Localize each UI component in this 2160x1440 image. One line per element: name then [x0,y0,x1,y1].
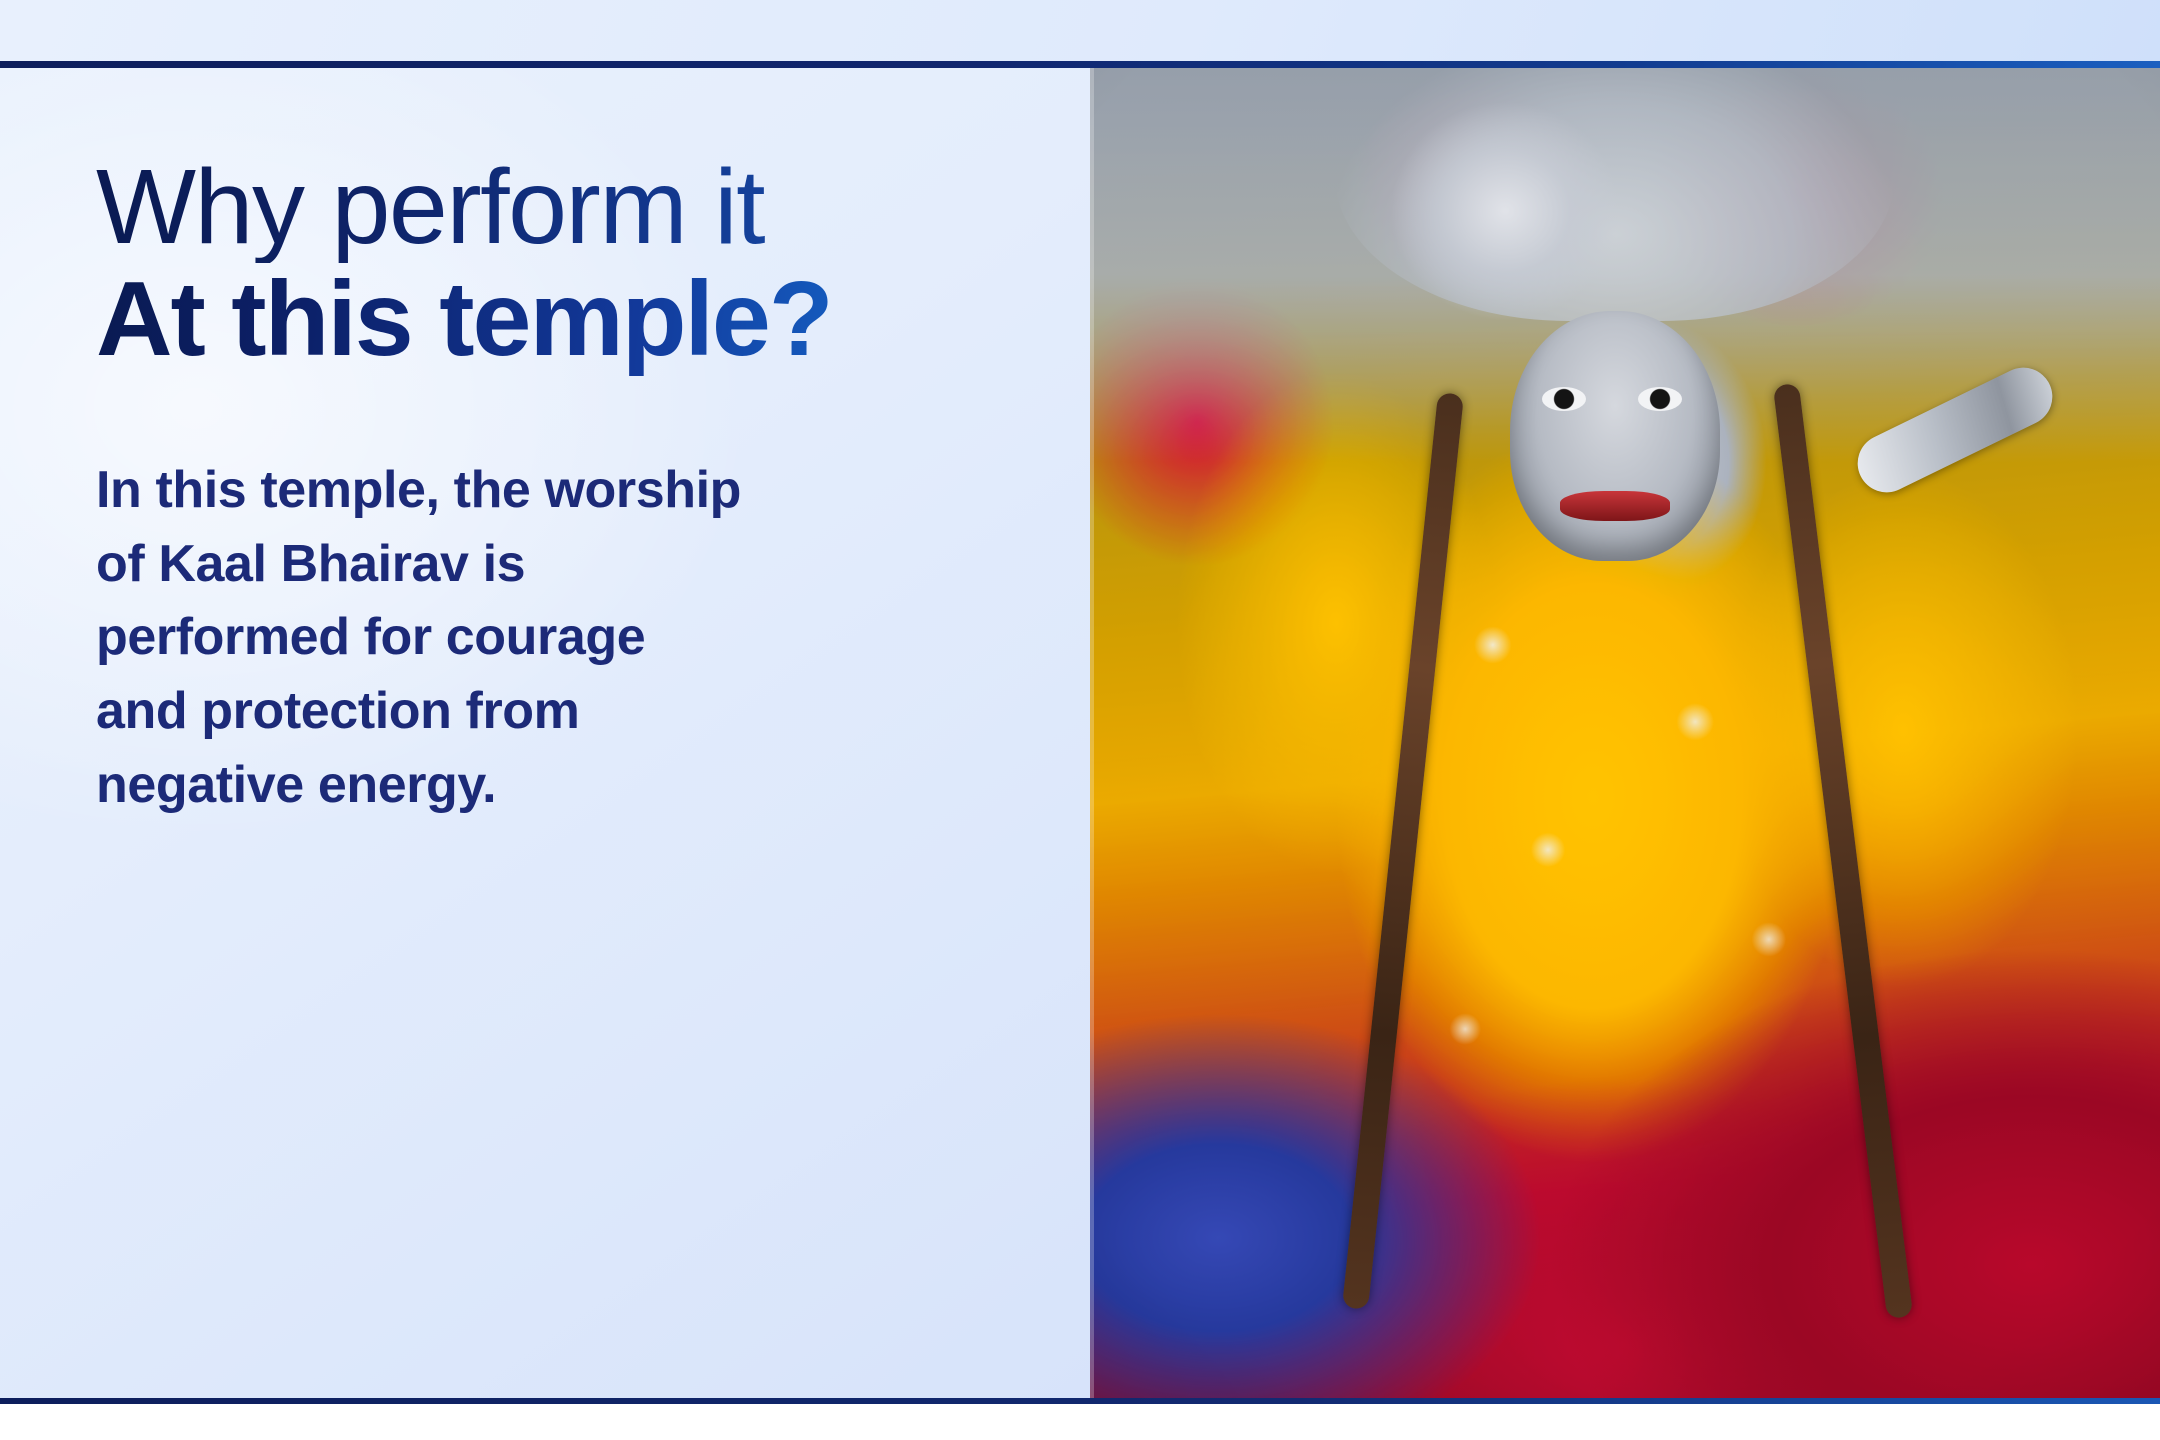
slide-root: Why perform it At this temple? In this t… [0,0,2160,1440]
photo-vignette [1090,61,2160,1398]
body-line-3: performed for courage [96,601,996,675]
heading-line-2: At this temple? [96,263,1026,375]
heading-line-1: Why perform it [96,151,1026,263]
bottom-strip [0,1404,2160,1440]
body-line-4: and protection from [96,675,996,749]
deity-image-panel [1090,61,2160,1398]
page-title: Why perform it At this temple? [96,151,1026,376]
panel-seam-divider [1090,61,1094,1398]
text-panel-inner: Why perform it At this temple? In this t… [96,151,1026,823]
text-panel: Why perform it At this temple? In this t… [0,61,1090,1398]
body-paragraph: In this temple, the worship of Kaal Bhai… [96,454,996,823]
body-line-1: In this temple, the worship [96,454,996,528]
body-line-2: of Kaal Bhairav is [96,528,996,602]
body-line-5: negative energy. [96,749,996,823]
bottom-divider-rule [0,1398,2160,1404]
top-divider-rule [0,61,2160,68]
top-strip [0,0,2160,61]
